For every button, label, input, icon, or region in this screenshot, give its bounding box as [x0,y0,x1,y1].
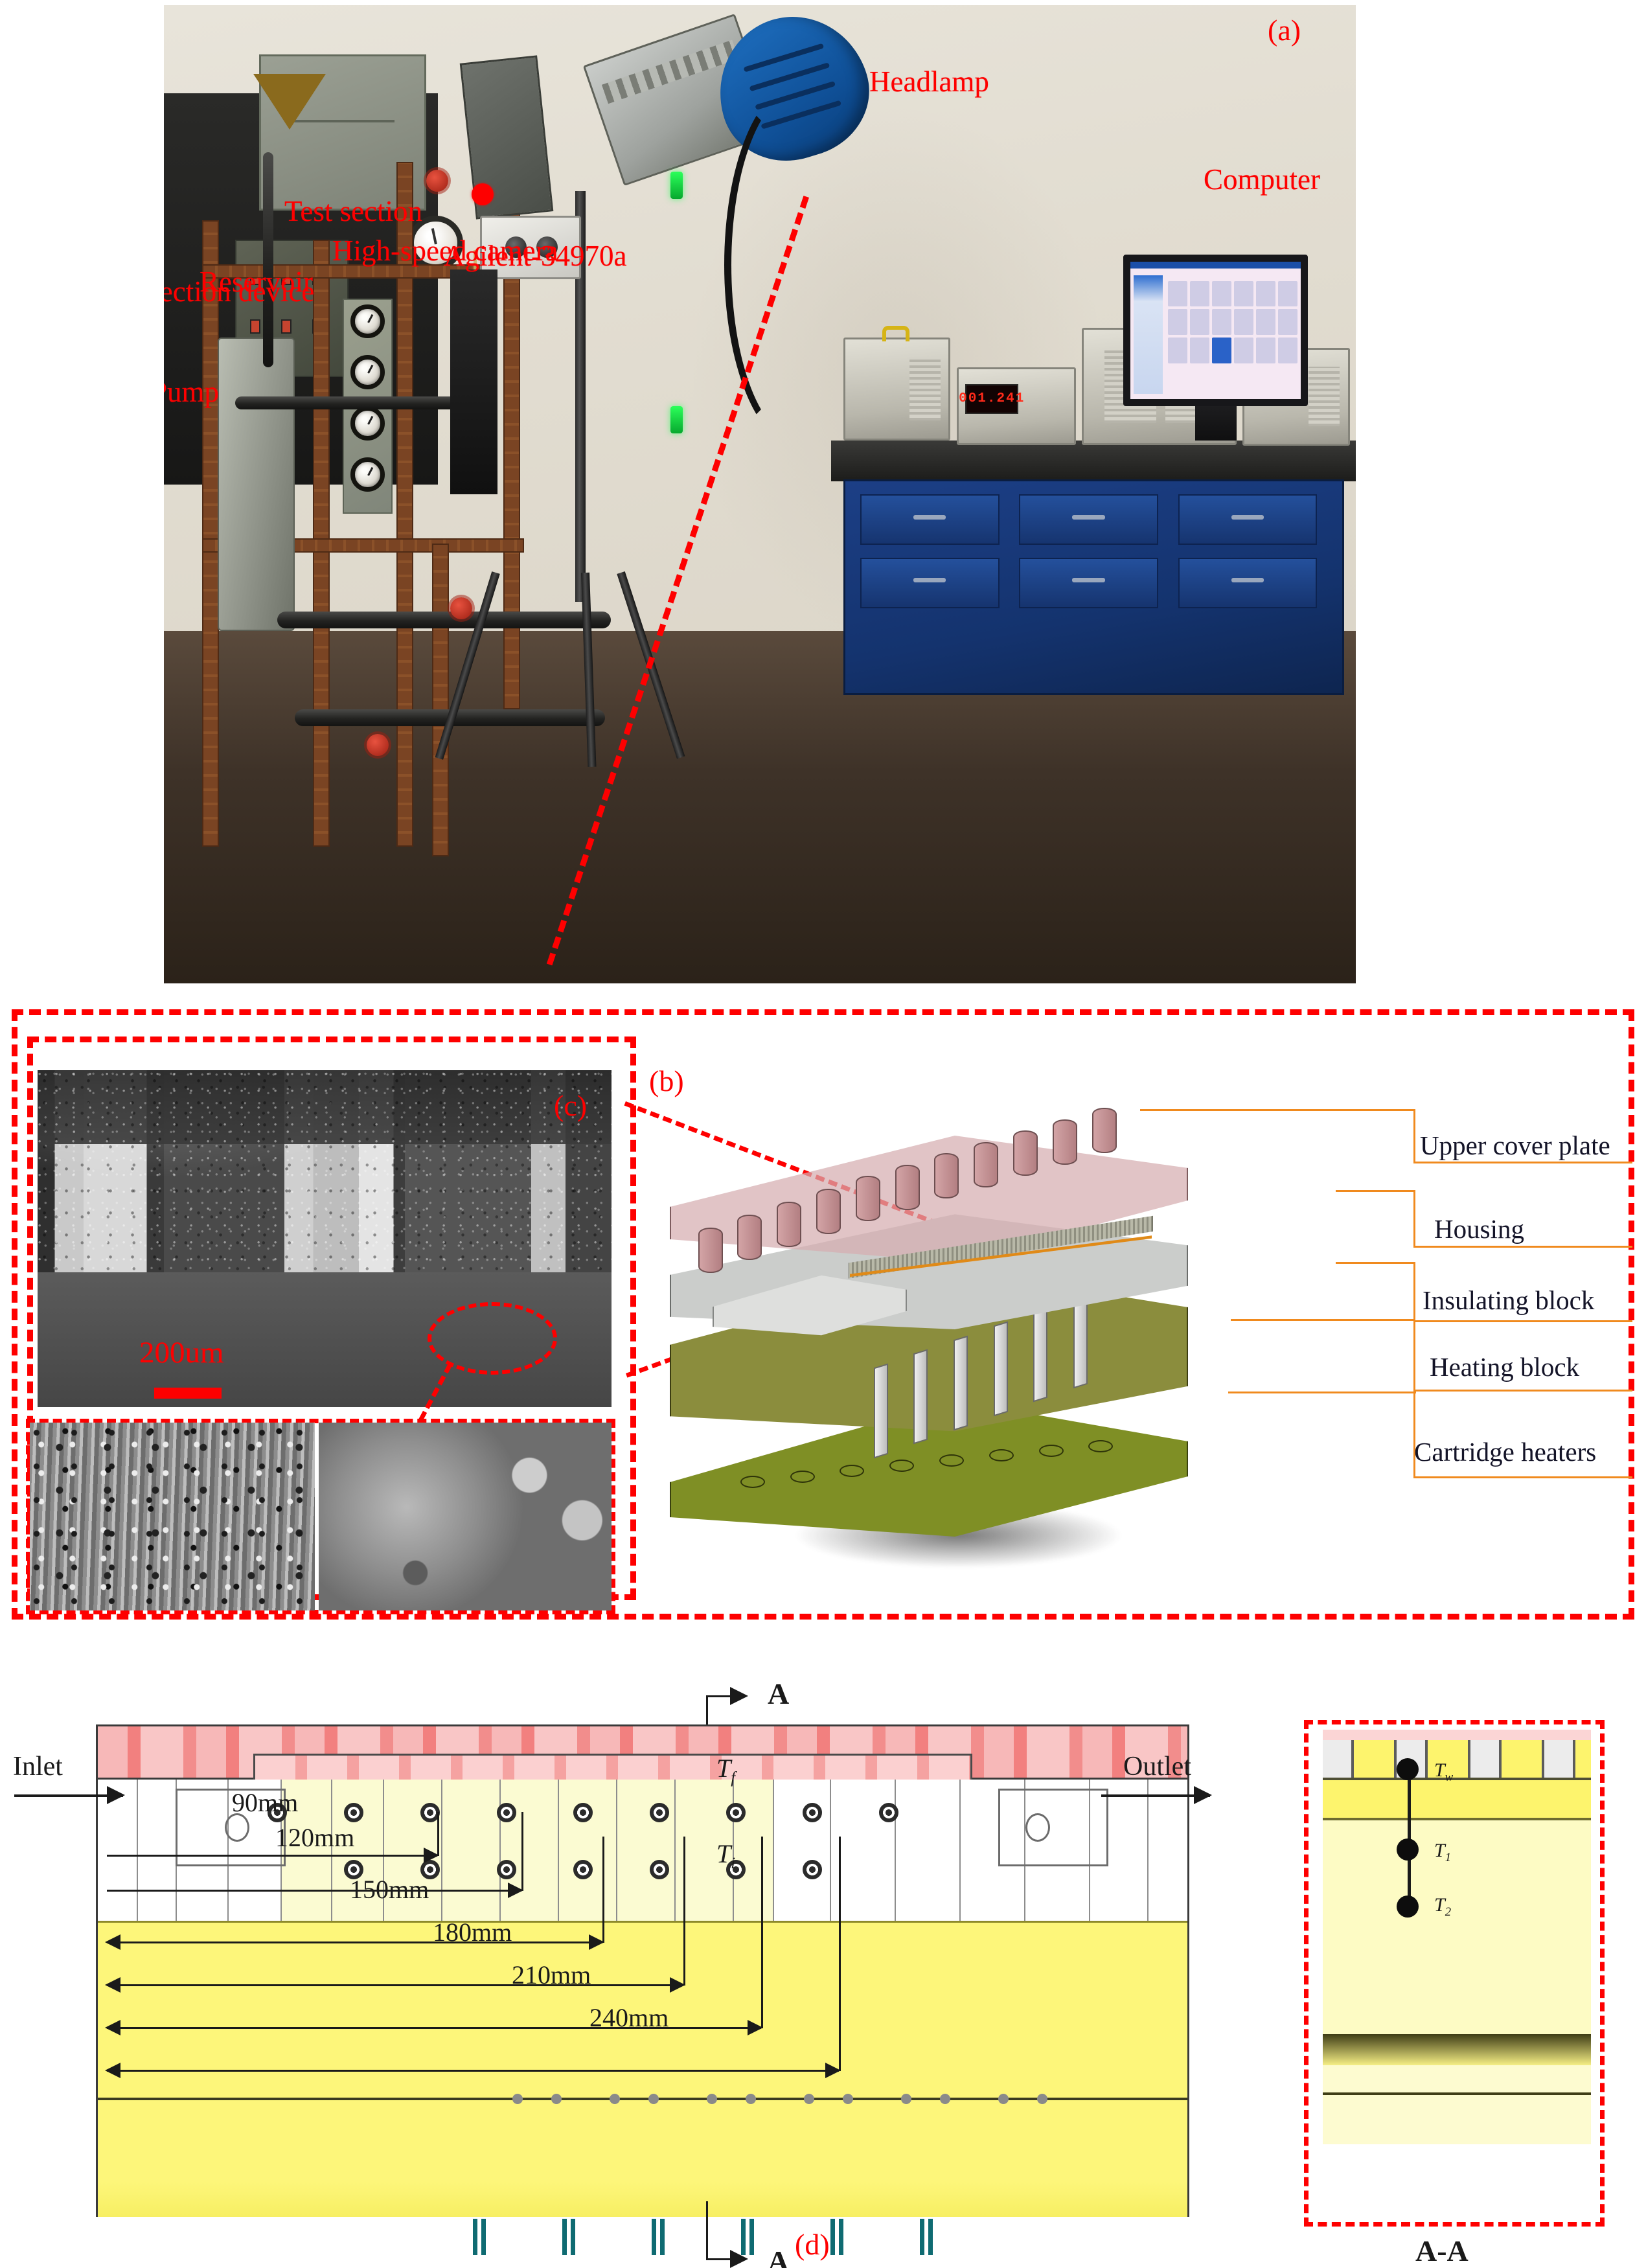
dimension-label-240mm: 240mm [589,2005,669,2031]
temperature-symbol-Ti-sub: i [731,1855,735,1872]
monitor-stand [1195,406,1237,441]
dimension-label-150mm: 150mm [350,1877,429,1903]
grid-cell [1190,338,1209,363]
temperature-symbol-Ti-base: T [716,1839,731,1868]
section-marker-arm [706,2258,746,2260]
extension-line [839,1837,841,2071]
thermocouple-bead [512,2094,523,2104]
thermocouple-bead [901,2094,911,2104]
injection-pipe [263,152,273,367]
leader-insulating-block-drop [1413,1262,1415,1322]
panel-tag-a: (a) [1268,16,1301,45]
temperature-symbol-Ti: Ti [716,1841,735,1872]
detail-upper-heating-layer [1323,1780,1591,1820]
section-line [895,1780,896,1921]
panel-b-exploded-model: (b) [654,1075,1224,1594]
bench-drawer[interactable] [1019,558,1158,608]
frame-post [202,220,219,846]
detail-thermocouple-point-T2 [1397,1896,1419,1918]
callout-cartridge-heaters: Cartridge heaters [1414,1439,1596,1465]
extension-line [437,1812,439,1856]
port-cylinder [974,1142,998,1187]
annotation-pump: Pump [164,378,219,407]
cartridge-heater-hole [740,1476,765,1488]
thermocouple-bead [1037,2094,1047,2104]
cartridge-heater [1073,1293,1088,1388]
port-cylinder [1053,1119,1077,1165]
thermocouple-wire-pair [830,2219,843,2255]
power-led [670,172,683,199]
detail-temperature-symbol-T1: T1 [1434,1841,1451,1864]
grid-cell [1168,281,1187,307]
dimension-line-120mm [107,1890,521,1892]
panel-tag-d: (d) [795,2230,830,2260]
vent-grille [909,358,941,421]
grid-cell [1278,338,1297,363]
pressure-gauge [350,457,385,492]
section-line [830,1780,831,1921]
thermocouple-port [573,1803,593,1822]
thermocouple-bead [707,2094,717,2104]
thermocouple-wire-pair [473,2219,486,2255]
thermocouple-port [879,1803,898,1822]
sem-image-channel-wall-closeup [30,1423,315,1610]
detail-heating-block-body [1323,1820,1591,2034]
panel-tag-b: (b) [649,1066,684,1096]
leader-heating-block [1231,1319,1415,1321]
inlet-flow-arrow [14,1794,123,1797]
section-line [773,1780,774,1921]
detail-temperature-symbol-T2-base: T [1434,1894,1445,1916]
annotation-test-section: Test section [284,197,422,226]
leader-housing-drop [1413,1190,1415,1248]
grid-cell [1234,281,1253,307]
thermocouple-port [344,1803,363,1822]
agilent-data-acquisition: 001.241 [957,367,1076,446]
sem-pore-texture [30,1423,315,1610]
extension-line [683,1837,685,1986]
leader-cartridge-heaters-base [1413,1476,1632,1478]
annotation-computer: Computer [1204,165,1320,194]
detail-view-AA-drawing: Tw T1 T2 [1323,1730,1591,2144]
indicator-led [250,319,260,334]
dimension-label-180mm: 180mm [433,1919,512,1945]
dimension-line-240mm [107,2070,839,2072]
thermocouple-bead [998,2094,1009,2104]
extension-line [761,1837,763,2028]
bench-drawer[interactable] [1178,558,1318,608]
callout-housing: Housing [1434,1216,1524,1243]
port-cylinder [856,1176,880,1221]
outlet-flow-arrow [1101,1794,1210,1797]
section-marker-arm [706,1695,746,1697]
detail-temperature-symbol-T2-sub: 2 [1445,1905,1451,1919]
leader-upper-cover-plate-drop [1413,1109,1415,1163]
heating-block-region [98,1921,1187,2217]
thermocouple-wire-pair [562,2219,575,2255]
section-line [674,1780,676,1921]
section-letter-top: A [768,1679,789,1709]
bench-drawer[interactable] [860,494,1000,545]
port-cylinder [737,1215,762,1260]
bench-drawer[interactable] [860,558,1000,608]
callout-upper-cover-plate: Upper cover plate [1420,1132,1610,1159]
thermocouple-wire-pair [652,2219,665,2255]
leader-heating-block-base [1413,1390,1632,1392]
leader-insulating-block [1336,1262,1415,1264]
instrument-bench [843,479,1344,694]
detail-thermocouple-point-T1 [1397,1838,1419,1861]
detail-lower-gradient-band [1323,2034,1591,2065]
test-section-block [450,269,498,494]
section-line [137,1780,138,1921]
detail-temperature-symbol-T2: T2 [1434,1896,1451,1919]
grid-cell [1256,281,1275,307]
thermocouple-bead [551,2094,562,2104]
power-cable [724,84,873,446]
grid-cell [1168,309,1187,335]
temperature-symbol-Tf-base: T [716,1754,731,1783]
thermocouple-bead [648,2094,659,2104]
instrument-bench-top [831,441,1356,481]
callout-insulating-block: Insulating block [1423,1287,1594,1314]
thermocouple-port [650,1803,669,1822]
grid-cell [1234,338,1253,363]
monitor-screen [1130,262,1301,399]
detail-temperature-symbol-T1-base: T [1434,1840,1445,1861]
indicator-led [281,319,291,334]
detail-cover-plate [1323,1730,1591,1740]
thermocouple-port [650,1860,669,1879]
grid-cell [1278,309,1297,335]
cartridge-heater [1033,1307,1047,1403]
thermocouple-wire-pair [920,2219,933,2255]
port-cylinder [895,1165,920,1210]
leader-heating-block-drop [1413,1319,1415,1391]
figure-root: 001.241 [0,0,1646,2268]
dimension-line-150mm [107,1942,602,1943]
section-line [1147,1780,1149,1921]
extension-line [521,1812,523,1891]
valve-handle [450,597,472,619]
bench-drawer[interactable] [1019,494,1158,545]
computer-monitor [1123,255,1308,406]
panel-tag-c: (c) [554,1091,587,1121]
thermocouple-bead [746,2094,756,2104]
leader-housing [1336,1190,1415,1192]
pressure-gauge [350,355,385,389]
pressure-gauge [350,304,385,339]
section-letter-bottom: A [768,2247,789,2268]
annotation-headlamp: Headlamp [869,67,989,97]
funnel [253,74,326,130]
detail-view-AA-caption: A-A [1415,2236,1469,2266]
grid-cell [1168,338,1187,363]
software-sidebar [1134,275,1163,393]
dimension-line-180mm [107,1984,683,1986]
detail-view-AA-container: Tw T1 T2 [1304,1720,1605,2227]
cartridge-heater-group [868,1306,1153,1481]
grid-cell [1256,338,1275,363]
detail-microchannel-fins [1323,1740,1591,1780]
dimension-label-90mm: 90mm [232,1790,298,1816]
port-cylinder [934,1153,959,1198]
cartridge-heater-hole [790,1471,815,1483]
outlet-plenum [998,1789,1108,1866]
cartridge-heater [954,1335,968,1430]
pressure-gauge [350,406,385,441]
valve-handle [367,734,389,756]
thermocouple-lead-line [98,2098,1187,2100]
cartridge-heater [874,1363,888,1458]
annotation-fluid-injection-device: Fluid injection device [164,277,314,306]
port-cylinder [698,1228,723,1273]
callout-heating-block: Heating block [1430,1354,1579,1380]
port-cylinder [1013,1130,1038,1176]
cartridge-heater [913,1349,928,1445]
thermocouple-bead [610,2094,620,2104]
grid-cell-selected [1212,338,1231,363]
grid-cell [1190,281,1209,307]
dimension-label-120mm: 120mm [275,1825,354,1851]
detail-base-plate [1323,2092,1591,2144]
detail-temperature-symbol-T1-sub: 1 [1445,1851,1451,1864]
section-line [499,1780,501,1921]
temperature-symbol-Tf: Tf [716,1756,735,1787]
section-line [558,1780,559,1921]
grid-cell [1212,309,1231,335]
sem-grain-texture [319,1423,612,1610]
inlet-label: Inlet [13,1753,63,1780]
power-led [670,406,683,433]
panel-a-photograph: 001.241 [164,5,1356,983]
grid-cell [1234,309,1253,335]
grid-cell [1190,309,1209,335]
section-line [616,1780,617,1921]
detail-temperature-symbol-Tw-base: T [1434,1759,1445,1781]
dimension-line-90mm [107,1855,437,1857]
carry-handle [882,326,909,341]
outlet-label: Outlet [1123,1753,1191,1780]
thermocouple-port [497,1803,516,1822]
leader-cartridge-heaters [1228,1392,1416,1393]
test-section-marker-dot [472,183,494,205]
extension-line [602,1837,604,1943]
port-cylinder [1092,1108,1117,1153]
leader-upper-cover-plate-base [1413,1162,1632,1163]
thermocouple-port [573,1860,593,1879]
fluid-tank [218,338,295,631]
thermocouple-bead [843,2094,853,2104]
grid-cell [1212,281,1231,307]
section-line [959,1780,961,1921]
grid-cell [1278,281,1297,307]
leader-housing-base [1413,1246,1632,1248]
bench-drawer[interactable] [1178,494,1318,545]
detail-temperature-symbol-Tw: Tw [1434,1761,1453,1784]
grid-cell [1256,309,1275,335]
thermocouple-port [803,1860,822,1879]
thermocouple-port [497,1860,516,1879]
thermocouple-bead [804,2094,814,2104]
leader-insulating-block-base [1413,1320,1632,1322]
scale-bar-label: 200um [139,1338,224,1368]
scale-bar [154,1388,222,1399]
thermocouple-port [726,1803,746,1822]
thermocouple-port [803,1803,822,1822]
annotation-agilent: Agilent-34970a [444,242,626,271]
section-line [441,1780,442,1921]
instrument-readout: 001.241 [965,384,1018,414]
leader-upper-cover-plate [1140,1109,1415,1111]
sem-region-of-interest-ellipse [428,1302,557,1375]
cartridge-heater [994,1322,1008,1417]
cartridge-heater-hole [840,1465,864,1477]
port-cylinder [816,1189,841,1234]
temperature-symbol-Tf-sub: f [731,1769,735,1787]
port-cylinder [777,1202,801,1247]
detail-thermocouple-point-Tw [1397,1758,1419,1780]
section-marker-stem [706,2201,708,2260]
inlet-bore [225,1813,249,1842]
vent-grille [1309,367,1340,427]
thermocouple-bead [940,2094,950,2104]
detail-temperature-symbol-Tw-sub: w [1445,1770,1453,1784]
lower-pipe [277,612,611,628]
frame-post [432,544,449,856]
software-data-grid [1168,281,1297,363]
valve-handle [426,170,448,192]
sem-image-surface-morphology [319,1423,612,1610]
outlet-bore [1025,1813,1050,1842]
dimension-label-210mm: 210mm [512,1962,591,1988]
